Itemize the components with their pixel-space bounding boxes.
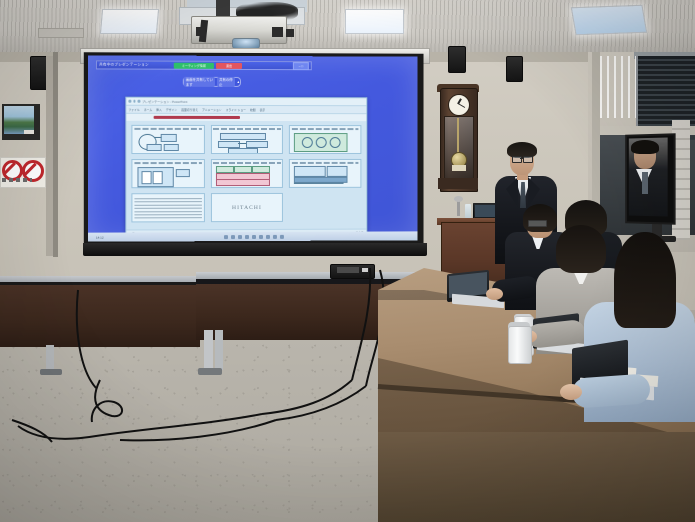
left-table-leg bbox=[46, 345, 54, 371]
mail-icon[interactable] bbox=[252, 234, 256, 238]
clock-base bbox=[438, 178, 478, 189]
edge-icon[interactable] bbox=[238, 235, 242, 239]
ppt-undo-icon[interactable] bbox=[133, 100, 136, 103]
ppt-highlight-bar bbox=[154, 116, 240, 119]
vc-leave-button[interactable]: 退出 bbox=[216, 62, 242, 68]
presenter-glasses-right bbox=[523, 156, 533, 163]
attendee-1-glasses bbox=[528, 220, 547, 227]
water-bottle bbox=[465, 204, 471, 218]
wall-speaker-right bbox=[506, 56, 523, 82]
ppt-title-text: プレゼンテーション - PowerPoint bbox=[142, 99, 364, 103]
travel-mug bbox=[508, 326, 532, 364]
slide-title-lines bbox=[292, 161, 359, 163]
slide-thumbnail-7[interactable]: 7 bbox=[131, 193, 204, 222]
left-table-panel bbox=[0, 285, 200, 347]
screen-bottom-bar bbox=[83, 243, 427, 256]
ppt-redo-icon[interactable] bbox=[137, 100, 140, 103]
slide-screenshot bbox=[134, 165, 201, 185]
slide-diagram bbox=[134, 131, 201, 151]
table-block-b bbox=[327, 166, 348, 177]
tab-insert[interactable]: 挿入 bbox=[156, 107, 162, 111]
tab-file[interactable]: ファイル bbox=[128, 107, 139, 111]
air-vent bbox=[38, 28, 84, 38]
slide-title-lines bbox=[292, 128, 359, 130]
tab-slideshow[interactable]: スライド ショー bbox=[226, 107, 246, 111]
attendee-4-hair bbox=[614, 232, 676, 328]
pendulum-rod bbox=[457, 118, 459, 156]
door-jamb bbox=[46, 56, 53, 256]
stop-share-button[interactable]: 共有の停止 bbox=[217, 77, 235, 87]
flow-bottom bbox=[228, 148, 258, 154]
center-table-foot bbox=[198, 368, 222, 375]
screenshot-panel-a bbox=[142, 171, 152, 184]
diagram-box-b bbox=[147, 144, 162, 151]
monitor-hair bbox=[631, 140, 659, 154]
search-icon[interactable] bbox=[231, 235, 235, 239]
table-head-1 bbox=[216, 166, 234, 173]
slide-title-lines bbox=[134, 127, 202, 129]
av-switcher-led bbox=[362, 268, 368, 272]
slide-thumbnail-3[interactable]: 3 bbox=[289, 125, 361, 154]
tab-view[interactable]: 表示 bbox=[260, 108, 266, 112]
slide-thumbnail-6[interactable]: 6 bbox=[289, 159, 361, 188]
screenshot-panel-b bbox=[153, 171, 163, 184]
sign-text-lines bbox=[2, 178, 32, 182]
slide-title-lines bbox=[213, 161, 281, 163]
table-row-red-2 bbox=[216, 179, 270, 186]
attendee-4-hand bbox=[560, 384, 582, 400]
av-switcher-display bbox=[337, 267, 359, 273]
share-status-label: 画面を共有しています bbox=[184, 77, 215, 87]
ceiling-light-1 bbox=[100, 9, 159, 34]
taskbar-clock: 14:12 bbox=[96, 235, 104, 239]
attendee-1-hair bbox=[523, 204, 557, 232]
attendee-3-hair bbox=[556, 225, 606, 273]
excel-icon[interactable] bbox=[273, 234, 277, 238]
ppt-icon[interactable] bbox=[266, 234, 270, 238]
tab-transitions[interactable]: 画面切り替え bbox=[181, 107, 198, 111]
tab-review[interactable]: 校閲 bbox=[250, 107, 256, 111]
slide-table-red bbox=[214, 165, 281, 185]
blind-cords bbox=[600, 56, 636, 118]
explorer-icon[interactable] bbox=[245, 235, 249, 239]
vc-title-text: 共有中のプレゼンテーション bbox=[99, 62, 172, 67]
attendee-4-arm bbox=[571, 373, 651, 408]
table-rule bbox=[294, 183, 344, 184]
vc-minimize-button[interactable]: – □ bbox=[293, 62, 309, 70]
ppt-tab-list[interactable]: ファイル ホーム 挿入 デザイン 画面切り替え アニメーション スライド ショー… bbox=[128, 107, 265, 111]
projector-label-far bbox=[286, 29, 294, 37]
wall-corner bbox=[53, 52, 58, 257]
tab-animations[interactable]: アニメーション bbox=[202, 107, 222, 111]
presenter-glasses-bridge bbox=[520, 158, 523, 159]
gooseneck-microphone bbox=[457, 200, 460, 216]
ppt-slide-grid[interactable]: 1 2 bbox=[126, 121, 366, 227]
slide-title-lines bbox=[213, 127, 281, 129]
slide-thumbnail-1[interactable]: 1 bbox=[131, 125, 204, 154]
ppt-save-icon[interactable] bbox=[128, 100, 131, 103]
foreground-table-front bbox=[378, 432, 695, 522]
vc-info-button[interactable]: ミーティング情報 bbox=[174, 62, 214, 68]
monitor-tie bbox=[642, 172, 648, 194]
projector-label-left bbox=[196, 27, 205, 36]
slide-thumbnail-8[interactable]: 8 HITACHI bbox=[211, 193, 284, 222]
projection-screen[interactable]: 共有中のプレゼンテーション ミーティング情報 退出 – □ 画面を共有しています… bbox=[88, 55, 418, 241]
diagram-link bbox=[155, 137, 162, 138]
slide-title-lines bbox=[134, 162, 202, 164]
flow-top bbox=[220, 133, 266, 140]
tab-design[interactable]: デザイン bbox=[166, 107, 177, 111]
powerpoint-window[interactable]: プレゼンテーション - PowerPoint ファイル ホーム 挿入 デザイン … bbox=[125, 97, 367, 237]
center-table-leg-1 bbox=[204, 330, 213, 370]
microphone-head bbox=[454, 196, 463, 202]
windows-taskbar[interactable]: 14:12 bbox=[88, 231, 418, 241]
flow-left bbox=[218, 141, 240, 148]
ceiling-light-2 bbox=[345, 9, 404, 34]
vc-title-bar[interactable]: 共有中のプレゼンテーション ミーティング情報 退出 – □ bbox=[96, 60, 312, 70]
left-table-foot bbox=[40, 369, 62, 375]
chrome-icon[interactable] bbox=[280, 234, 284, 238]
table-head-2 bbox=[234, 166, 252, 173]
start-icon[interactable] bbox=[224, 235, 228, 239]
center-table-leg-2 bbox=[215, 330, 223, 370]
diagram-box-c bbox=[164, 144, 179, 151]
ceiling-light-3 bbox=[571, 5, 648, 35]
tab-home[interactable]: ホーム bbox=[144, 107, 152, 111]
screenshot-callout bbox=[176, 169, 190, 177]
picture-caption-plate bbox=[24, 130, 34, 134]
slide-thumbnail-5[interactable]: 5 bbox=[211, 159, 284, 188]
flow-right bbox=[246, 141, 268, 148]
conference-room-photo: 共有中のプレゼンテーション ミーティング情報 退出 – □ 画面を共有しています… bbox=[0, 0, 695, 522]
projector-label-right bbox=[272, 27, 283, 37]
slide-bullet-lines bbox=[134, 198, 201, 218]
slide-table-blue bbox=[292, 165, 358, 185]
table-head-3 bbox=[252, 166, 270, 173]
slide-thumbnail-2[interactable]: 2 bbox=[211, 125, 284, 154]
clock-brand-plate bbox=[452, 165, 466, 171]
attendee-1-hand bbox=[486, 288, 503, 300]
slide-diagram bbox=[292, 131, 358, 151]
slide-diagram bbox=[214, 131, 281, 151]
chevron-up-icon[interactable]: ▲ bbox=[237, 80, 240, 84]
hitachi-logo-text: HITACHI bbox=[212, 194, 283, 221]
slide-thumbnail-4[interactable]: 4 bbox=[131, 159, 204, 188]
wall-speaker-center bbox=[448, 46, 466, 73]
teams-icon[interactable] bbox=[259, 234, 263, 238]
flow-link bbox=[238, 143, 246, 144]
screen-share-indicator[interactable]: 画面を共有しています 共有の停止 ▲ bbox=[183, 77, 241, 87]
table-block-a bbox=[294, 166, 326, 177]
diagram-box-a bbox=[161, 134, 177, 142]
